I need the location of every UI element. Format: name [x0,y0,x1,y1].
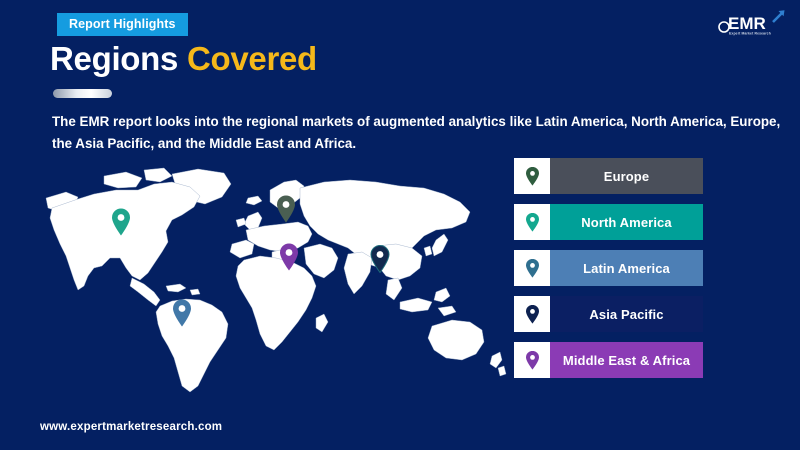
legend-label: Latin America [550,250,703,286]
legend-label: Asia Pacific [550,296,703,332]
title-divider [53,89,112,98]
map-pin-north-america[interactable] [110,208,132,236]
description-text: The EMR report looks into the regional m… [52,111,782,155]
page-title-primary: Regions [50,40,187,77]
report-highlights-badge: Report Highlights [57,13,188,36]
emr-logo-tagline: Expert Market Research [729,32,771,36]
map-pin-asia-pacific-icon [369,245,391,273]
map-pin-asia-pacific[interactable] [369,245,391,273]
footer-url: www.expertmarketresearch.com [40,421,222,433]
emr-logo-svg: EMR Expert Market Research [716,8,788,38]
world-map [32,160,512,400]
legend-row[interactable]: Asia Pacific [514,296,703,332]
page-title: Regions Covered [50,40,317,78]
map-pin-europe[interactable] [275,195,297,223]
map-pin-latin-america-legend-icon [514,250,550,286]
map-pin-latin-america-icon [171,299,193,327]
region-legend: EuropeNorth AmericaLatin AmericaAsia Pac… [514,158,703,378]
map-pin-north-america-legend-icon [514,204,550,240]
map-pin-asia-pacific-legend-icon [514,296,550,332]
map-pin-europe-icon [275,195,297,223]
legend-row[interactable]: Middle East & Africa [514,342,703,378]
map-pin-middle-east-africa-icon [278,243,300,271]
legend-row[interactable]: Europe [514,158,703,194]
legend-row[interactable]: North America [514,204,703,240]
legend-label: North America [550,204,703,240]
legend-label: Europe [550,158,703,194]
legend-label: Middle East & Africa [550,342,703,378]
page-title-accent: Covered [187,40,317,77]
map-pin-middle-east-africa-legend-icon [514,342,550,378]
map-pin-latin-america[interactable] [171,299,193,327]
map-pin-middle-east-africa[interactable] [278,243,300,271]
map-pin-europe-legend-icon [514,158,550,194]
emr-logo-wordmark: EMR [728,14,766,33]
map-pin-north-america-icon [110,208,132,236]
legend-row[interactable]: Latin America [514,250,703,286]
emr-logo: EMR Expert Market Research [716,8,788,38]
world-map-svg [32,160,512,400]
